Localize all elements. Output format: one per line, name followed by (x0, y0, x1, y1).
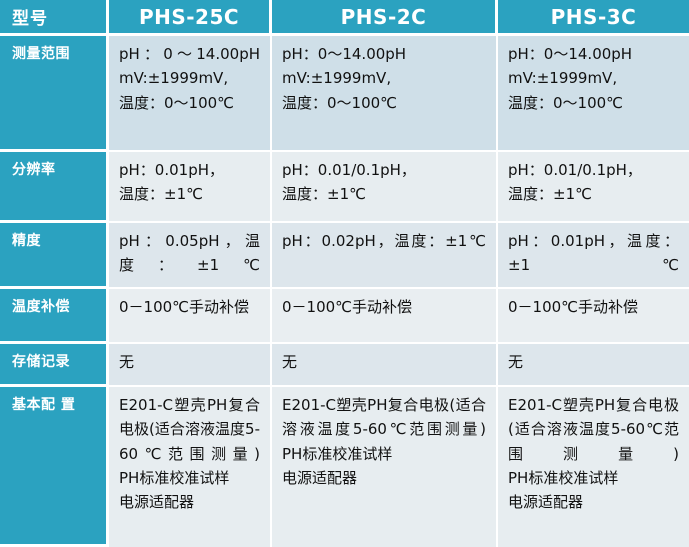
line: 0－100℃手动补偿 (508, 295, 679, 319)
table-row-storage-records: 存储记录 无 无 无 (0, 344, 689, 387)
cell-resolution-phs2c: pH：0.01/0.1pH， 温度：±1℃ (272, 152, 498, 223)
line: 无 (508, 350, 679, 374)
table-header: 型号 PHS-25C PHS-2C PHS-3C (0, 0, 689, 36)
cell-basic-config-phs2c: E201-C塑壳PH复合电极(适合溶液温度5-60℃范围测量) PH标准校准试样… (272, 387, 498, 547)
cell-accuracy-phs3c: pH：0.01pH，温度：±1℃ (498, 223, 689, 289)
cell-resolution-phs3c: pH：0.01/0.1pH， 温度：±1℃ (498, 152, 689, 223)
row-label-storage-records: 存储记录 (0, 344, 109, 387)
row-label-basic-configuration: 基本配 置 (0, 387, 109, 547)
specification-table: 型号 PHS-25C PHS-2C PHS-3C 测量范围 pH：0～14.00… (0, 0, 689, 547)
cell-accuracy-phs2c: pH：0.02pH，温度：±1℃ (272, 223, 498, 289)
header-cell-label: 型号 (0, 0, 109, 36)
row-label-measuring-range: 测量范围 (0, 36, 109, 152)
cell-temp-comp-phs25c: 0－100℃手动补偿 (109, 289, 272, 344)
table-row-resolution: 分辨率 pH：0.01pH， 温度：±1℃ pH：0.01/0.1pH， 温度：… (0, 152, 689, 223)
line: 温度：±1℃ (508, 182, 679, 206)
header-cell-model-2: PHS-2C (272, 0, 498, 36)
cell-temp-comp-phs2c: 0－100℃手动补偿 (272, 289, 498, 344)
header-row: 型号 PHS-25C PHS-2C PHS-3C (0, 0, 689, 36)
line: pH：0.02pH，温度：±1℃ (282, 229, 486, 253)
line: pH：0.01/0.1pH， (282, 158, 486, 182)
cell-basic-config-phs25c: E201-C塑壳PH复合电极(适合溶液温度5-60℃范围测量) PH标准校准试样… (109, 387, 272, 547)
line: 电源适配器 (119, 490, 260, 514)
line: 电源适配器 (282, 466, 486, 490)
line: pH：0～14.00pH (508, 42, 679, 66)
line: E201-C塑壳PH复合电极(适合溶液温度5-60℃范围测量) (508, 393, 679, 466)
line: 温度：0～100℃ (282, 91, 486, 115)
cell-measuring-range-phs2c: pH：0～14.00pH mV:±1999mV, 温度：0～100℃ (272, 36, 498, 152)
line: 温度：±1℃ (119, 182, 260, 206)
row-label-temperature-compensation: 温度补偿 (0, 289, 109, 344)
line: mV:±1999mV, (508, 66, 679, 90)
cell-accuracy-phs25c: pH：0.05pH，温度：±1℃ (109, 223, 272, 289)
cell-measuring-range-phs25c: pH：0～14.00pH mV:±1999mV, 温度：0～100℃ (109, 36, 272, 152)
line: PH标准校准试样 (119, 466, 260, 490)
line: 温度：±1℃ (282, 182, 486, 206)
line: 无 (282, 350, 486, 374)
line: PH标准校准试样 (508, 466, 679, 490)
line: pH：0.01/0.1pH， (508, 158, 679, 182)
line: mV:±1999mV, (119, 66, 260, 90)
line: 无 (119, 350, 260, 374)
table-row-temperature-compensation: 温度补偿 0－100℃手动补偿 0－100℃手动补偿 0－100℃手动补偿 (0, 289, 689, 344)
line: pH：0～14.00pH (282, 42, 486, 66)
line: E201-C塑壳PH复合电极(适合溶液温度5-60℃范围测量) (119, 393, 260, 466)
line: 0－100℃手动补偿 (119, 295, 260, 319)
cell-storage-phs2c: 无 (272, 344, 498, 387)
cell-measuring-range-phs3c: pH：0～14.00pH mV:±1999mV, 温度：0～100℃ (498, 36, 689, 152)
line: pH：0～14.00pH (119, 42, 260, 66)
cell-temp-comp-phs3c: 0－100℃手动补偿 (498, 289, 689, 344)
line: pH：0.01pH， (119, 158, 260, 182)
line: mV:±1999mV, (282, 66, 486, 90)
line: 电源适配器 (508, 490, 679, 514)
header-cell-model-3: PHS-3C (498, 0, 689, 36)
cell-resolution-phs25c: pH：0.01pH， 温度：±1℃ (109, 152, 272, 223)
header-cell-model-1: PHS-25C (109, 0, 272, 36)
row-label-resolution: 分辨率 (0, 152, 109, 223)
cell-storage-phs25c: 无 (109, 344, 272, 387)
table-row-measuring-range: 测量范围 pH：0～14.00pH mV:±1999mV, 温度：0～100℃ … (0, 36, 689, 152)
line: 温度：0～100℃ (508, 91, 679, 115)
table-body: 测量范围 pH：0～14.00pH mV:±1999mV, 温度：0～100℃ … (0, 36, 689, 547)
line: PH标准校准试样 (282, 442, 486, 466)
cell-storage-phs3c: 无 (498, 344, 689, 387)
line: pH：0.05pH，温度：±1℃ (119, 229, 260, 278)
line: E201-C塑壳PH复合电极(适合溶液温度5-60℃范围测量) (282, 393, 486, 442)
line: 温度：0～100℃ (119, 91, 260, 115)
row-label-accuracy: 精度 (0, 223, 109, 289)
table-row-accuracy: 精度 pH：0.05pH，温度：±1℃ pH：0.02pH，温度：±1℃ pH：… (0, 223, 689, 289)
table-row-basic-configuration: 基本配 置 E201-C塑壳PH复合电极(适合溶液温度5-60℃范围测量) PH… (0, 387, 689, 547)
cell-basic-config-phs3c: E201-C塑壳PH复合电极(适合溶液温度5-60℃范围测量) PH标准校准试样… (498, 387, 689, 547)
line: 0－100℃手动补偿 (282, 295, 486, 319)
line: pH：0.01pH，温度：±1℃ (508, 229, 679, 278)
